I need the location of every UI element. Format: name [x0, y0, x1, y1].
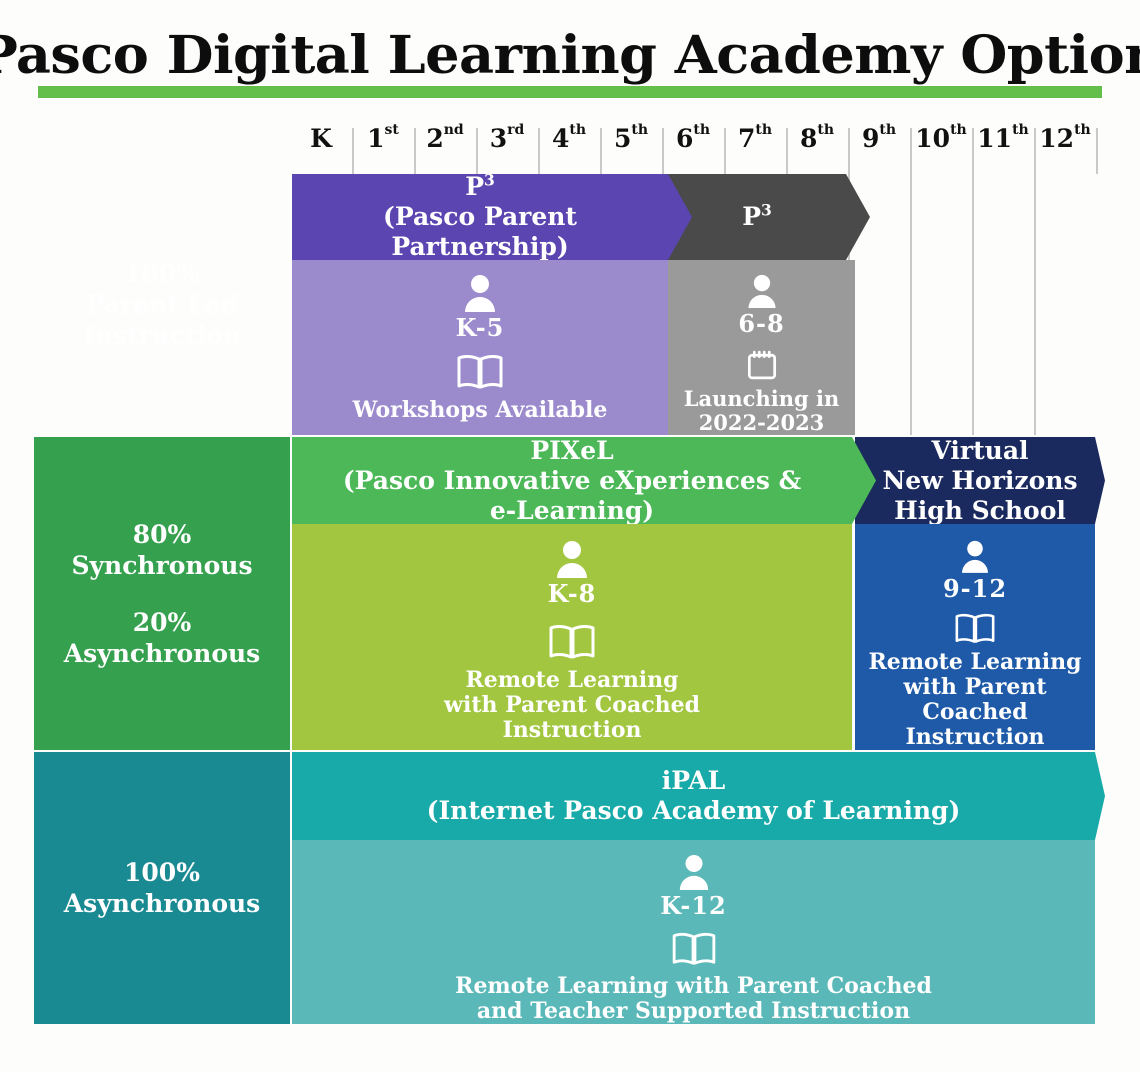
- program-caption-line: and Teacher Supported Instruction: [477, 999, 910, 1024]
- program-panel-p3-middle[interactable]: 6-8 Launching in 2022-2023: [668, 260, 855, 435]
- book-icon: [951, 613, 999, 644]
- title-underline-rule: [38, 86, 1102, 98]
- grade-divider-line: [786, 128, 788, 174]
- grade-column-header-7: 7th: [724, 120, 786, 176]
- grade-ordinal-suffix: rd: [507, 123, 524, 137]
- program-caption-line: Launching in: [684, 387, 839, 411]
- program-panel-ipal[interactable]: K-12 Remote Learning with Parent Coached…: [292, 840, 1095, 1024]
- banner-line: (Internet Pasco Academy of Learning): [413, 796, 975, 826]
- calendar-icon: [743, 348, 781, 381]
- grade-column-header-2: 2nd: [414, 120, 476, 176]
- program-panel-pixel[interactable]: K-8 Remote Learning with Parent Coached …: [292, 524, 852, 750]
- book-icon: [670, 932, 718, 966]
- grade-number: 8: [800, 124, 817, 153]
- grade-number: 9: [862, 124, 879, 153]
- banner-line: iPAL: [648, 766, 739, 796]
- grade-number: 7: [738, 124, 755, 153]
- banner-line: New Horizons: [868, 466, 1091, 496]
- grade-column-header-11: 11th: [972, 120, 1034, 176]
- grade-divider-line: [414, 128, 416, 174]
- book-icon: [456, 354, 504, 390]
- grade-ordinal-suffix: th: [817, 123, 834, 137]
- grade-range-badge: 6-8: [738, 310, 784, 338]
- grade-number: 1: [367, 124, 384, 153]
- row-label-line: Instruction: [83, 320, 241, 351]
- row-label-asynchronous: 100% Asynchronous: [34, 752, 290, 1024]
- program-banner-p3-elementary[interactable]: P3 (Pasco Parent Partnership): [292, 174, 692, 260]
- grade-column-header-4: 4th: [538, 120, 600, 176]
- grade-number: 6: [676, 124, 693, 153]
- page-title: Pasco Digital Learning Academy Options: [0, 28, 1140, 84]
- grade-divider-line: [972, 128, 974, 435]
- grade-column-header-9: 9th: [848, 120, 910, 176]
- row-label-line: Asynchronous: [64, 888, 261, 919]
- grade-ordinal-suffix: th: [755, 123, 772, 137]
- grade-number: 10: [915, 124, 950, 153]
- grade-number: 5: [614, 124, 631, 153]
- grade-column-header-10: 10th: [910, 120, 972, 176]
- grade-range-badge: 9-12: [943, 575, 1007, 603]
- grade-header-row: K1st2nd3rd4th5th6th7th8th9th10th11th12th: [290, 120, 1096, 176]
- program-panel-virtual-new-horizons[interactable]: 9-12 Remote Learning with Parent Coached…: [855, 524, 1095, 750]
- row-label-synchronous: 80% Synchronous 20% Asynchronous: [34, 437, 290, 750]
- program-banner-virtual-new-horizons[interactable]: Virtual New Horizons High School: [855, 437, 1105, 524]
- grade-range-badge: K-12: [660, 892, 726, 920]
- program-caption-line: Coached: [922, 700, 1027, 725]
- grade-divider-line: [724, 128, 726, 174]
- title-block: Pasco Digital Learning Academy Options: [0, 28, 1140, 108]
- grade-number: K: [310, 124, 332, 153]
- program-caption-line: Instruction: [905, 725, 1044, 750]
- banner-line: e-Learning): [476, 496, 668, 526]
- person-icon: [677, 854, 711, 890]
- grade-ordinal-suffix: th: [879, 123, 896, 137]
- grade-column-header-5: 5th: [600, 120, 662, 176]
- program-caption-line: 2022-2023: [699, 411, 825, 435]
- program-banner-p3-middle[interactable]: P3: [668, 174, 870, 260]
- grade-ordinal-suffix: th: [950, 123, 967, 137]
- grade-divider-line: [476, 128, 478, 174]
- book-icon: [548, 624, 596, 660]
- grade-number: 4: [552, 124, 569, 153]
- grade-column-header-k: K: [290, 120, 352, 176]
- row-label-line: 20%: [133, 607, 192, 638]
- banner-line: Virtual: [917, 436, 1042, 466]
- program-caption-line: with Parent: [903, 675, 1046, 700]
- program-panel-p3-elementary[interactable]: K-5 Workshops Available: [292, 260, 668, 435]
- program-caption-line: Instruction: [502, 718, 641, 743]
- grade-column-header-3: 3rd: [476, 120, 538, 176]
- grade-number: 2: [426, 124, 443, 153]
- grade-divider-line: [662, 128, 664, 174]
- row-label-line: Parent Led: [86, 289, 239, 320]
- row-label-line: 100%: [124, 857, 200, 888]
- person-icon: [555, 540, 589, 578]
- grade-ordinal-suffix: st: [385, 123, 399, 137]
- grade-ordinal-suffix: th: [631, 123, 648, 137]
- grade-divider-line: [1034, 128, 1036, 435]
- program-caption: Workshops Available: [353, 398, 608, 423]
- program-caption-line: Remote Learning with Parent Coached: [455, 974, 932, 999]
- grade-ordinal-suffix: nd: [444, 123, 464, 137]
- grade-column-header-8: 8th: [786, 120, 848, 176]
- grade-range-badge: K-8: [548, 580, 597, 608]
- program-banner-pixel[interactable]: PIXeL (Pasco Innovative eXperiences & e-…: [292, 437, 876, 524]
- person-icon: [745, 274, 779, 308]
- row-label-parent-led: 100% Parent Led Instruction: [34, 174, 290, 435]
- grade-divider-line: [538, 128, 540, 174]
- grade-column-header-1: 1st: [352, 120, 414, 176]
- row-label-line: Synchronous: [71, 550, 252, 581]
- grade-divider-line: [1096, 128, 1098, 174]
- grade-divider-line: [600, 128, 602, 174]
- program-caption-line: with Parent Coached: [444, 693, 700, 718]
- banner-line: P3: [728, 202, 786, 232]
- banner-line: PIXeL: [516, 436, 627, 466]
- grade-ordinal-suffix: th: [693, 123, 710, 137]
- grade-ordinal-suffix: th: [1074, 123, 1091, 137]
- row-label-line: 100%: [124, 258, 200, 289]
- person-icon: [463, 274, 497, 312]
- banner-line: P3: [451, 172, 509, 202]
- grade-ordinal-suffix: th: [1012, 123, 1029, 137]
- grade-number: 3: [490, 124, 507, 153]
- grade-column-header-12: 12th: [1034, 120, 1096, 176]
- grade-ordinal-suffix: th: [569, 123, 586, 137]
- grade-number: 12: [1039, 124, 1074, 153]
- program-caption-line: Remote Learning: [868, 650, 1081, 675]
- program-caption-line: Remote Learning: [465, 668, 678, 693]
- row-label-line: 80%: [133, 519, 192, 550]
- grade-divider-line: [352, 128, 354, 174]
- person-icon: [958, 540, 992, 573]
- program-banner-ipal[interactable]: iPAL (Internet Pasco Academy of Learning…: [292, 752, 1105, 840]
- grade-column-header-6: 6th: [662, 120, 724, 176]
- grade-number: 11: [977, 124, 1012, 153]
- grade-divider-line: [910, 128, 912, 435]
- banner-line: High School: [880, 496, 1080, 526]
- banner-line: (Pasco Innovative eXperiences &: [329, 466, 815, 496]
- row-label-line: Asynchronous: [64, 638, 261, 669]
- grade-range-badge: K-5: [456, 314, 505, 342]
- banner-line: (Pasco Parent Partnership): [292, 202, 668, 262]
